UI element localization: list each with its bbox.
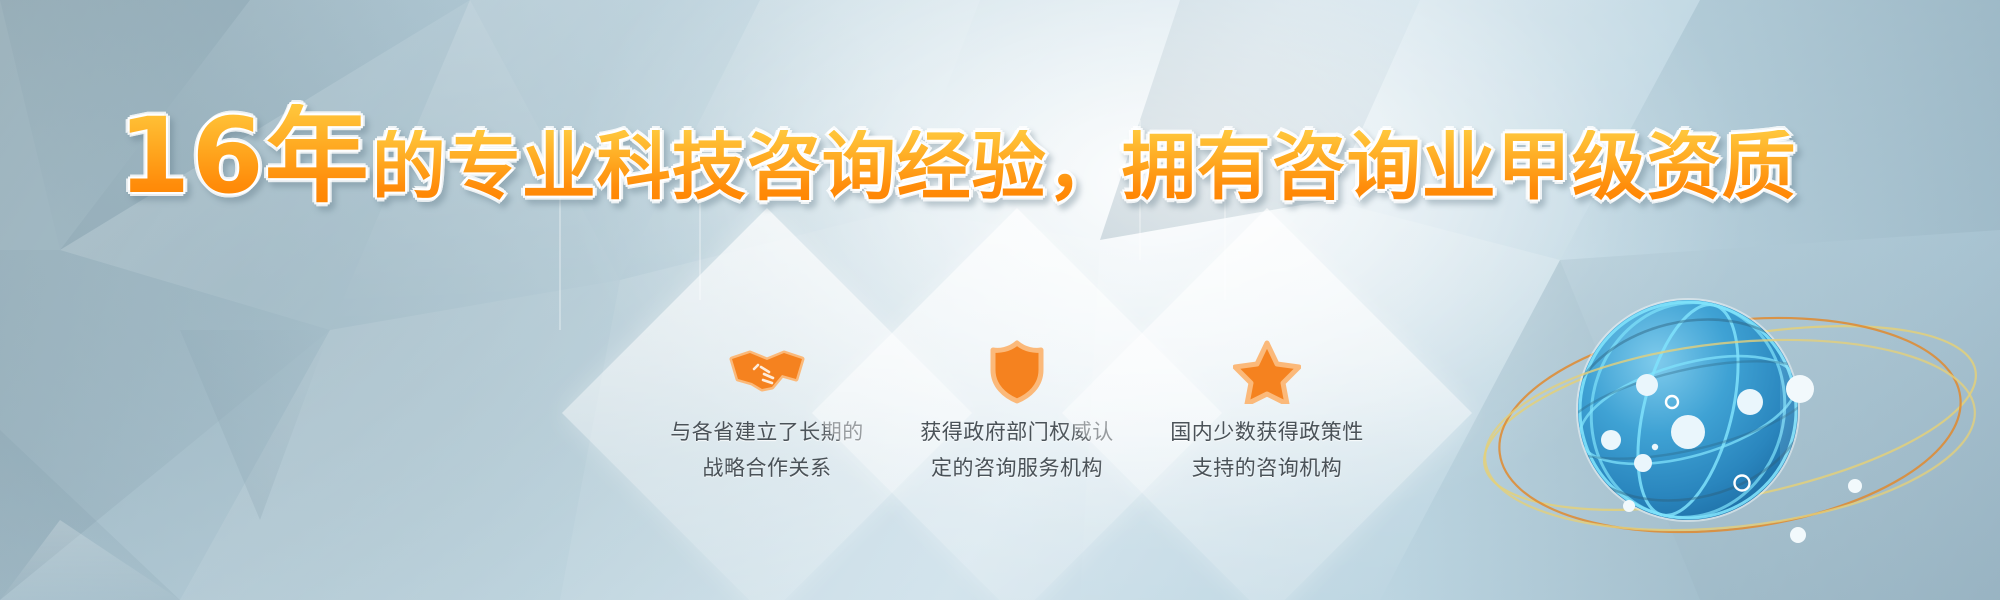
promo-banner: 16年 的专业科技咨询经验，拥有咨询业甲级资质: [0, 0, 2000, 600]
card-line-2: 战略合作关系: [670, 450, 864, 486]
card-text: 国内少数获得政策性 支持的咨询机构: [1170, 414, 1364, 486]
card-line-2: 定的咨询服务机构: [920, 450, 1114, 486]
star-icon: [1233, 340, 1301, 404]
globe-network-graphic: [1480, 250, 2000, 590]
card-line-1: 国内少数获得政策性: [1170, 414, 1364, 450]
handshake-icon: [728, 340, 806, 404]
card-line-2: 支持的咨询机构: [1170, 450, 1364, 486]
headline: 16年 的专业科技咨询经验，拥有咨询业甲级资质: [118, 104, 1797, 208]
headline-remainder: 的专业科技咨询经验，拥有咨询业甲级资质: [372, 130, 1797, 204]
headline-years: 16年: [118, 104, 370, 208]
shield-icon: [989, 340, 1045, 404]
feature-card-policy-support[interactable]: 国内少数获得政策性 支持的咨询机构: [1122, 268, 1412, 558]
